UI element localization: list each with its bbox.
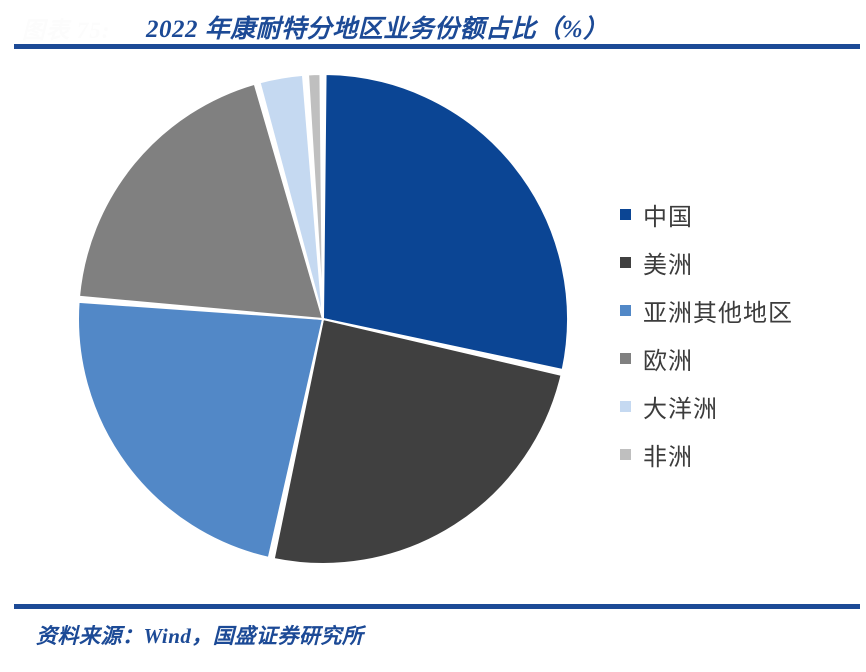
legend-label: 非洲 — [643, 437, 693, 472]
legend-item-5[interactable]: 大洋洲 — [620, 382, 850, 430]
legend-swatch-icon — [620, 305, 631, 316]
chart-legend: 中国美洲亚洲其他地区欧洲大洋洲非洲 — [620, 190, 850, 478]
legend-swatch-icon — [620, 257, 631, 268]
legend-item-4[interactable]: 欧洲 — [620, 334, 850, 382]
legend-item-6[interactable]: 非洲 — [620, 430, 850, 478]
chart-page: 图表 75: 2022 年康耐特分地区业务份额占比（%） 中国美洲亚洲其他地区欧… — [0, 0, 866, 672]
chart-header: 图表 75: 2022 年康耐特分地区业务份额占比（%） — [0, 0, 866, 48]
pie-slice-group — [78, 74, 568, 564]
legend-swatch-icon — [620, 449, 631, 460]
legend-item-1[interactable]: 中国 — [620, 190, 850, 238]
legend-label: 美洲 — [643, 245, 693, 280]
legend-label: 欧洲 — [643, 341, 693, 376]
pie-chart — [55, 67, 595, 587]
legend-label: 中国 — [643, 197, 693, 232]
legend-swatch-icon — [620, 353, 631, 364]
footer-divider — [14, 604, 860, 609]
pie-svg — [55, 67, 595, 587]
legend-swatch-icon — [620, 209, 631, 220]
plot-area: 中国美洲亚洲其他地区欧洲大洋洲非洲 — [0, 49, 866, 601]
legend-label: 大洋洲 — [643, 389, 718, 424]
pie-slice-1[interactable] — [323, 74, 568, 370]
page-title: 2022 年康耐特分地区业务份额占比（%） — [146, 9, 609, 45]
legend-label: 亚洲其他地区 — [643, 293, 793, 328]
legend-swatch-icon — [620, 401, 631, 412]
legend-item-3[interactable]: 亚洲其他地区 — [620, 286, 850, 334]
figure-number-label: 图表 75: — [22, 11, 110, 45]
legend-item-2[interactable]: 美洲 — [620, 238, 850, 286]
source-note: 资料来源：Wind，国盛证券研究所 — [36, 620, 363, 650]
